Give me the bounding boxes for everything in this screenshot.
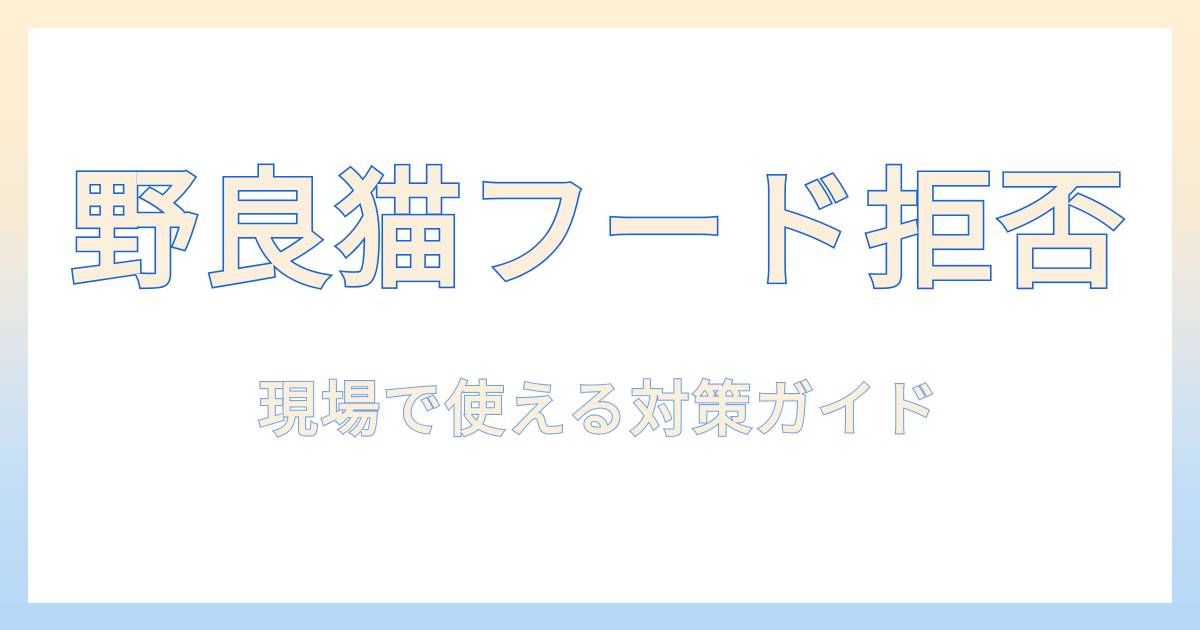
- page-title: 野良猫フード拒否: [28, 168, 1172, 296]
- content-card: 野良猫フード拒否 現場で使える対策ガイド: [28, 28, 1172, 603]
- text-stack: 野良猫フード拒否 現場で使える対策ガイド: [28, 168, 1172, 439]
- poster-canvas: 野良猫フード拒否 現場で使える対策ガイド: [0, 0, 1200, 630]
- page-subtitle: 現場で使える対策ガイド: [28, 380, 1172, 439]
